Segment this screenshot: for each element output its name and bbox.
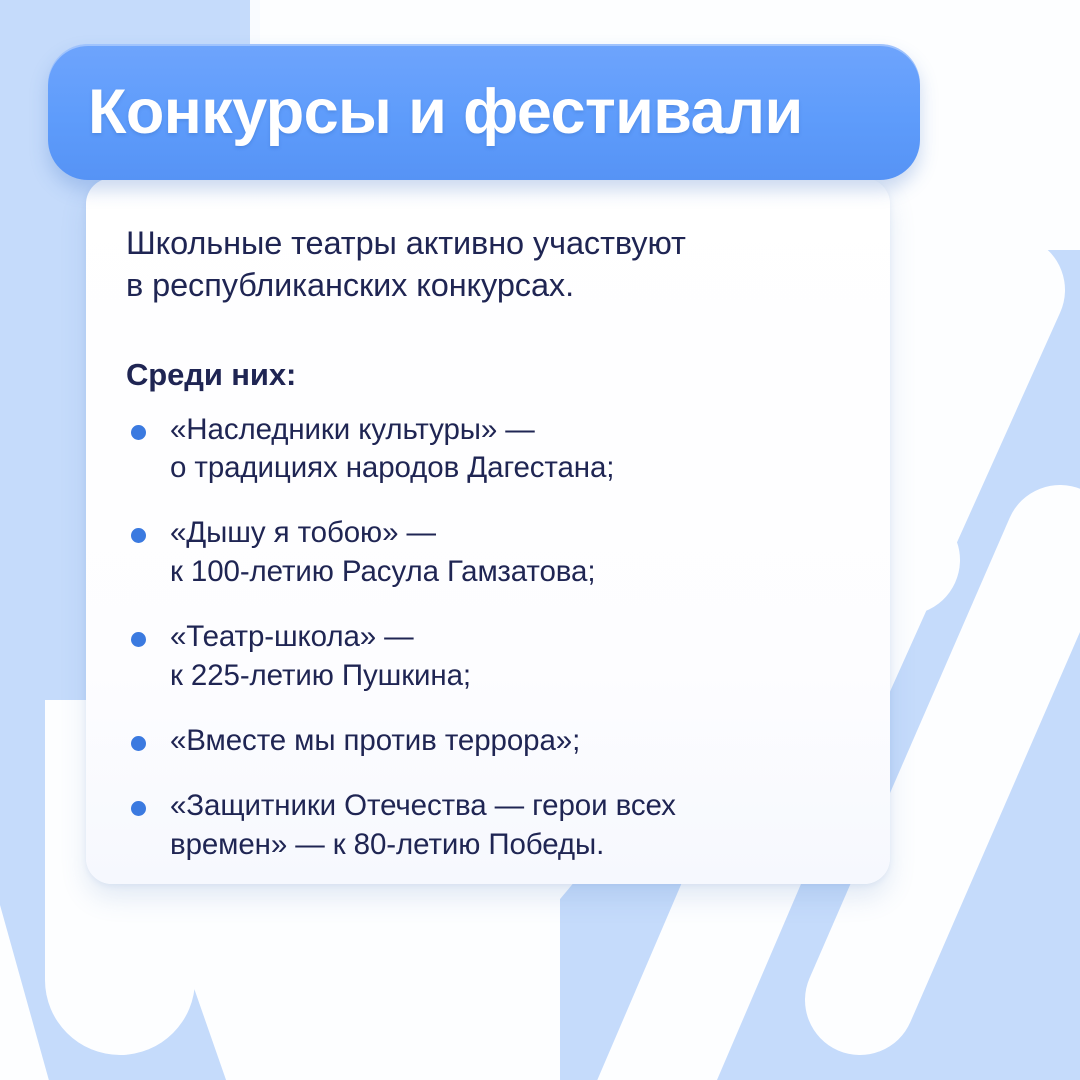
poster-canvas: Конкурсы и фестивали Школьные театры акт… bbox=[0, 0, 1080, 1080]
list-item-line-1: «Театр-школа» — bbox=[170, 620, 414, 653]
list-item-line-2: к 100-летию Расула Гамзатова; bbox=[170, 553, 844, 592]
competitions-list: «Наследники культуры» — о традициях наро… bbox=[126, 411, 844, 865]
intro-line-1: Школьные театры активно участвуют bbox=[126, 225, 686, 261]
list-item-line-2: времен» — к 80-летию Победы. bbox=[170, 826, 844, 865]
list-item-line-1: «Дышу я тобою» — bbox=[170, 516, 436, 549]
bullet-dot-icon bbox=[131, 425, 146, 440]
list-item-line-2: о традициях народов Дагестана; bbox=[170, 449, 844, 488]
list-item: «Театр-школа» — к 225-летию Пушкина; bbox=[126, 618, 844, 696]
list-item: «Вместе мы против террора»; bbox=[126, 722, 844, 761]
list-item: «Наследники культуры» — о традициях наро… bbox=[126, 411, 844, 489]
bullet-dot-icon bbox=[131, 801, 146, 816]
list-item-line-1: «Вместе мы против террора»; bbox=[170, 724, 580, 757]
title-pill: Конкурсы и фестивали bbox=[48, 44, 920, 180]
bullet-dot-icon bbox=[131, 528, 146, 543]
intro-line-2: в республиканских конкурсах. bbox=[126, 267, 574, 303]
bullet-dot-icon bbox=[131, 632, 146, 647]
list-item-line-1: «Защитники Отечества — герои всех bbox=[170, 789, 676, 822]
bullet-dot-icon bbox=[131, 736, 146, 751]
list-item: «Защитники Отечества — герои всех времен… bbox=[126, 787, 844, 865]
intro-paragraph: Школьные театры активно участвуют в респ… bbox=[126, 222, 844, 307]
list-item-line-1: «Наследники культуры» — bbox=[170, 413, 535, 446]
list-item-line-2: к 225-летию Пушкина; bbox=[170, 657, 844, 696]
list-item: «Дышу я тобою» — к 100-летию Расула Гамз… bbox=[126, 514, 844, 592]
page-title: Конкурсы и фестивали bbox=[48, 81, 803, 144]
subheading: Среди них: bbox=[126, 357, 844, 393]
content-card: Школьные театры активно участвуют в респ… bbox=[86, 178, 890, 884]
